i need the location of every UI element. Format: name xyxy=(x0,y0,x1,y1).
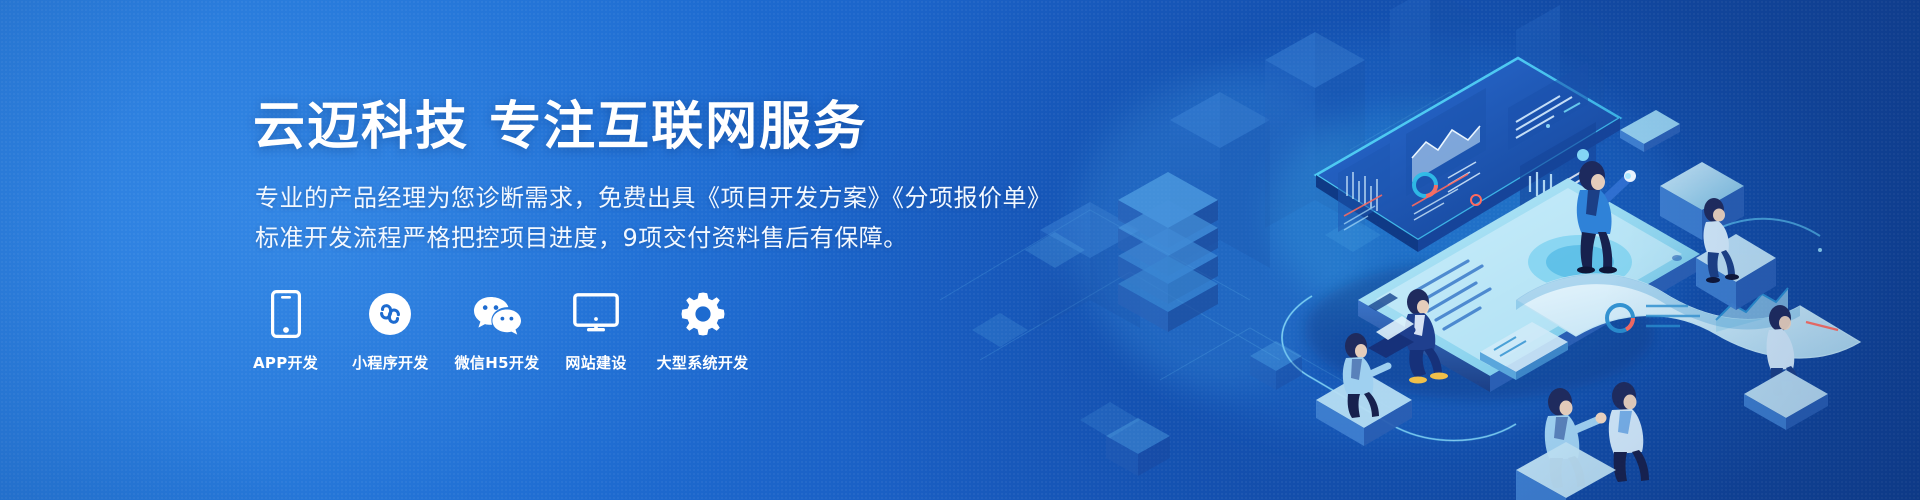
service-label-wechat-h5: 微信H5开发 xyxy=(455,352,540,373)
monitor-icon xyxy=(573,288,619,340)
service-item-large-system[interactable]: 大型系统开发 xyxy=(657,288,749,373)
subtitle-line-2: 标准开发流程严格把控项目进度，9项交付资料售后有保障。 xyxy=(255,218,908,253)
mobile-phone-icon xyxy=(271,288,301,340)
service-item-mini-program[interactable]: 小程序开发 xyxy=(352,288,429,373)
service-label-mini-program: 小程序开发 xyxy=(352,352,429,373)
service-label-app: APP开发 xyxy=(253,352,318,373)
service-label-large-system: 大型系统开发 xyxy=(657,352,749,373)
service-label-website: 网站建设 xyxy=(565,352,626,373)
service-item-app[interactable]: APP开发 xyxy=(253,288,318,373)
gear-icon xyxy=(680,288,726,340)
banner-content: 云迈科技 专注互联网服务 专业的产品经理为您诊断需求，免费出具《项目开发方案》《… xyxy=(253,0,1153,500)
service-icon-list: APP开发 小程序开发 xyxy=(253,288,748,373)
wechat-icon xyxy=(472,288,522,340)
promo-banner: 云迈科技 专注互联网服务 专业的产品经理为您诊断需求，免费出具《项目开发方案》《… xyxy=(0,0,1920,500)
subtitle-line-1: 专业的产品经理为您诊断需求，免费出具《项目开发方案》《分项报价单》 xyxy=(255,178,1052,213)
page-title: 云迈科技 专注互联网服务 xyxy=(253,84,867,159)
mini-program-icon xyxy=(368,288,412,340)
service-item-wechat-h5[interactable]: 微信H5开发 xyxy=(455,288,540,373)
service-item-website[interactable]: 网站建设 xyxy=(565,288,626,373)
